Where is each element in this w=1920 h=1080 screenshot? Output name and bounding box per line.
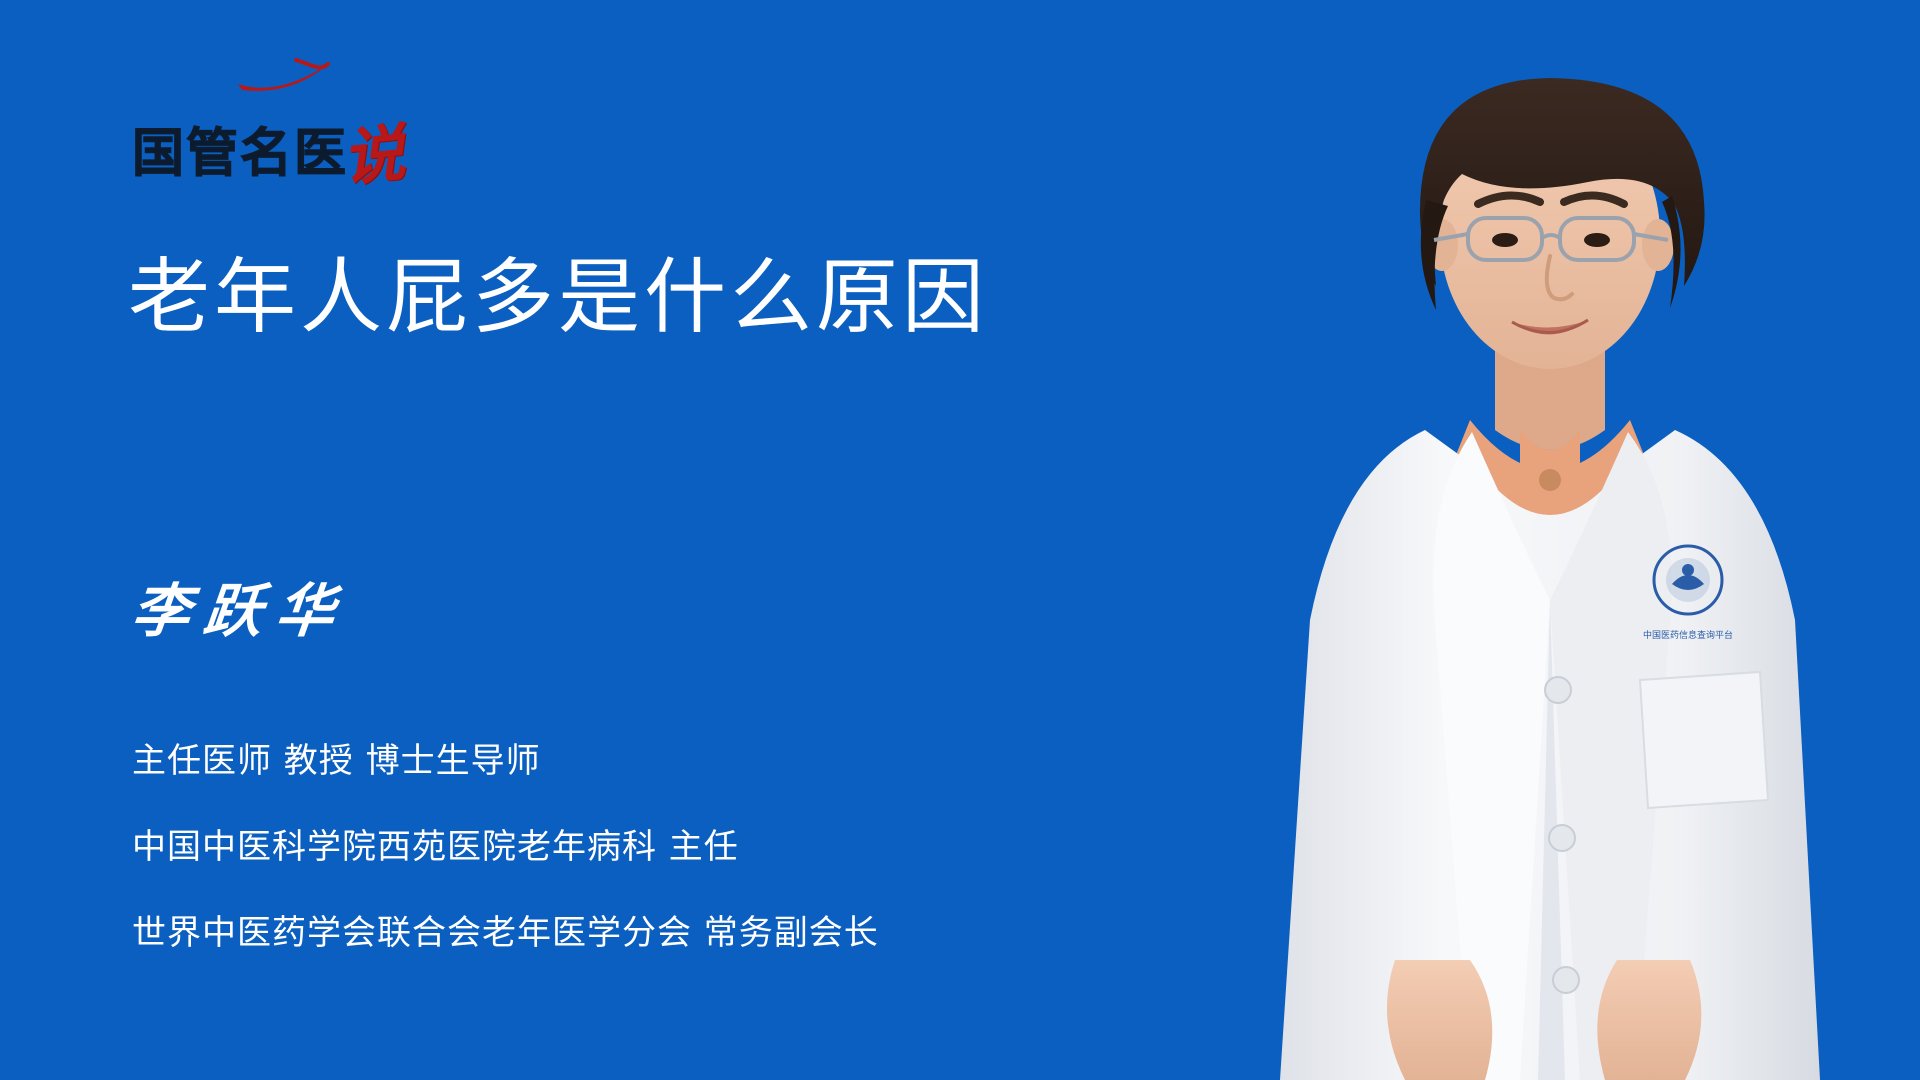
necklace-pendant: [1539, 469, 1561, 491]
coat-button: [1553, 967, 1579, 993]
doctor-name: 李跃华: [129, 578, 352, 644]
right-hand: [1597, 960, 1701, 1080]
doctor-credentials: 主任医师 教授 博士生导师 中国中医科学院西苑医院老年病科 主任 世界中医药学会…: [132, 718, 1192, 976]
red-brush-swoosh-icon: [236, 58, 332, 92]
brand-logo: 国管名医 说: [132, 110, 404, 180]
page-title: 老年人屁多是什么原因: [128, 250, 988, 346]
badge-label: 中国医药信息查询平台: [1643, 629, 1733, 641]
coat-button: [1549, 825, 1575, 851]
brand-logo-main-text: 国管名医: [132, 128, 348, 180]
coat-button: [1545, 677, 1571, 703]
brand-logo-accent-text: 说: [340, 125, 408, 187]
credential-line: 世界中医药学会联合会老年医学分会 常务副会长: [132, 890, 1192, 976]
slide-canvas: 国管名医 说 老年人屁多是什么原因 李跃华 主任医师 教授 博士生导师 中国中医…: [0, 0, 1920, 1080]
credential-line: 中国中医科学院西苑医院老年病科 主任: [132, 804, 1192, 890]
coat-pocket: [1640, 672, 1768, 808]
left-hand: [1387, 960, 1492, 1080]
doctor-portrait: 中国医药信息查询平台: [1220, 0, 1920, 1080]
credential-line: 主任医师 教授 博士生导师: [132, 718, 1192, 804]
